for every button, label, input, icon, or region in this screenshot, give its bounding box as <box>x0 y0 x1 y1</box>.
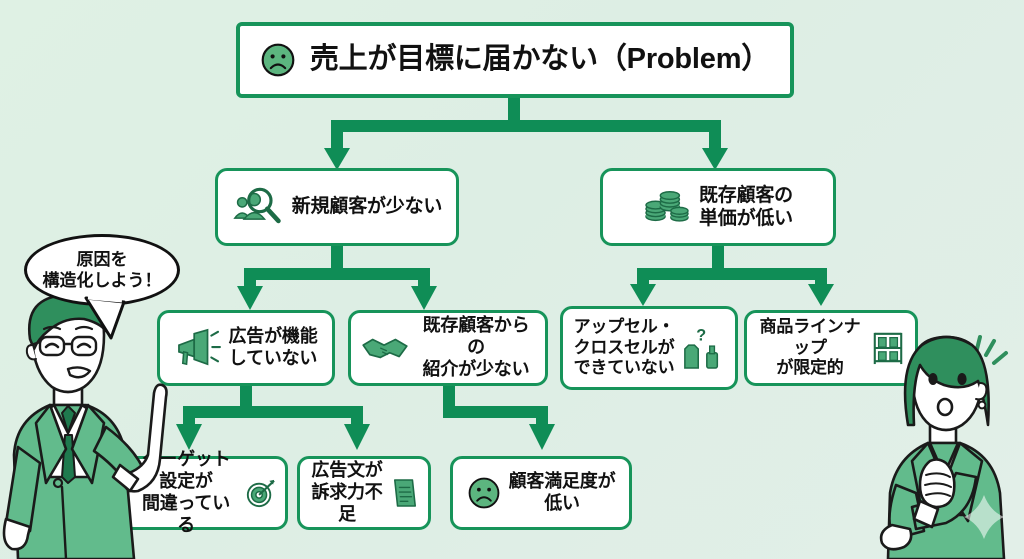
diagram-canvas: 売上が目標に届かない（Problem） 新規顧客が少ない <box>0 0 1024 559</box>
sad-face-icon <box>260 42 296 78</box>
node-root-problem[interactable]: 売上が目標に届かない（Problem） <box>236 22 794 98</box>
node-few-referrals-label: 既存顧客からの 紹介が少ない <box>417 315 535 381</box>
node-new-customers[interactable]: 新規顧客が少ない <box>215 168 459 246</box>
node-no-upsell-crosssell[interactable]: アップセル・ クロスセルが できていない ? <box>560 306 738 390</box>
node-existing-customer-price[interactable]: 既存顧客の 単価が低い <box>600 168 836 246</box>
businesswoman-thinking <box>872 315 1022 559</box>
node-low-satisfaction[interactable]: 顧客満足度が 低い <box>450 456 632 530</box>
node-ads-not-working[interactable]: 広告が機能 していない <box>157 310 335 386</box>
node-new-customers-label: 新規顧客が少ない <box>292 195 442 218</box>
node-no-upsell-crosssell-label: アップセル・ クロスセルが できていない <box>574 317 675 379</box>
target-icon <box>245 478 275 508</box>
sad-face-icon <box>467 476 501 510</box>
node-low-satisfaction-label: 顧客満足度が 低い <box>509 471 616 515</box>
node-root-label: 売上が目標に届かない（Problem） <box>310 42 770 77</box>
node-few-referrals[interactable]: 既存顧客からの 紹介が少ない <box>348 310 548 386</box>
people-search-icon <box>232 186 284 228</box>
coin-stack-icon <box>643 186 691 228</box>
svg-text:?: ? <box>697 326 707 344</box>
handshake-icon <box>361 330 409 366</box>
node-limited-lineup-label: 商品ラインナップ が限定的 <box>757 317 863 379</box>
node-existing-customer-price-label: 既存顧客の 単価が低い <box>699 184 793 230</box>
node-weak-ad-copy[interactable]: 広告文が 訴求力不足 <box>297 456 431 530</box>
node-ads-not-working-label: 広告が機能 していない <box>229 326 318 370</box>
speech-bubble-tail <box>84 296 138 340</box>
node-weak-ad-copy-label: 広告文が 訴求力不足 <box>310 460 384 526</box>
megaphone-icon <box>175 328 221 368</box>
product-bottle-icon: ? <box>682 324 724 372</box>
document-icon <box>392 477 418 509</box>
